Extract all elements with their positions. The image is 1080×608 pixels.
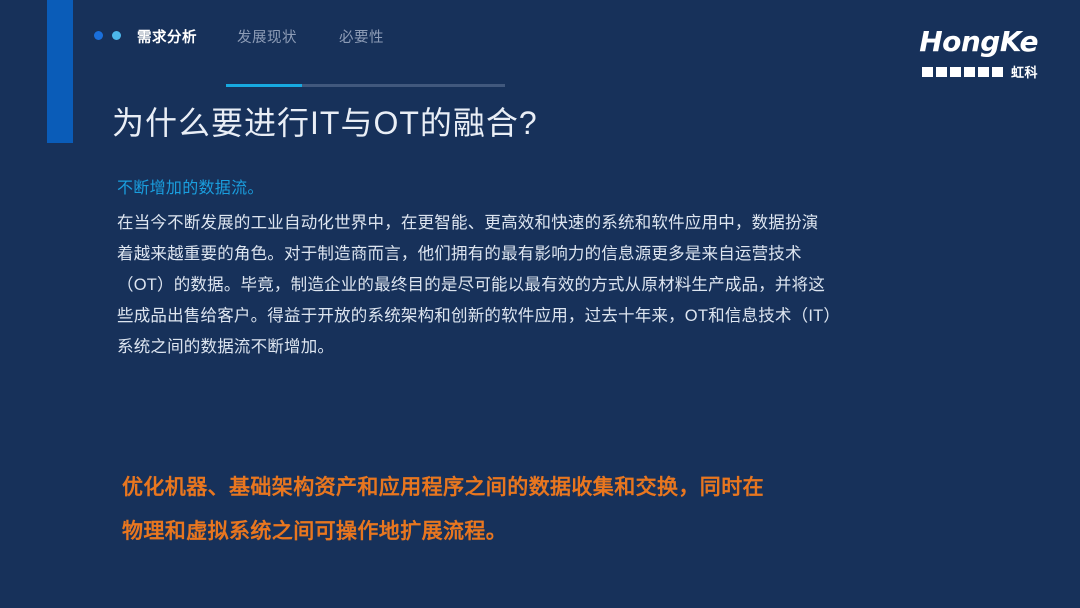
brand-sub-row: 虹科 xyxy=(919,62,1038,81)
nav-underline-track xyxy=(226,84,505,87)
callout-highlight: 优化机器、基础架构资产和应用程序之间的数据收集和交换，同时在 物理和虚拟系统之间… xyxy=(122,466,1022,554)
tab-requirement-analysis[interactable]: 需求分析 xyxy=(137,26,237,47)
tab-development-status[interactable]: 发展现状 xyxy=(237,26,339,47)
brand-name-text: HongKe xyxy=(919,28,1038,56)
dot-indicator-1-icon xyxy=(94,31,103,40)
top-navigation: 需求分析 发展现状 必要性 xyxy=(94,26,654,72)
tab-necessity[interactable]: 必要性 xyxy=(339,26,441,47)
brand-logo: HongKe 虹科 xyxy=(919,28,1038,81)
paragraph-line: 着越来越重要的角色。对于制造商而言，他们拥有的最有影响力的信息源更多是来自运营技… xyxy=(117,239,997,270)
brand-name-cn-text: 虹科 xyxy=(1011,62,1038,81)
paragraph-line: 些成品出售给客户。得益于开放的系统架构和创新的软件应用，过去十年来，OT和信息技… xyxy=(117,301,997,332)
left-accent-bar xyxy=(47,0,73,143)
paragraph-line: 在当今不断发展的工业自动化世界中，在更智能、更高效和快速的系统和软件应用中，数据… xyxy=(117,208,997,239)
callout-line: 优化机器、基础架构资产和应用程序之间的数据收集和交换，同时在 xyxy=(122,466,1022,510)
page-title: 为什么要进行IT与OT的融合? xyxy=(112,98,538,144)
content-block: 不断增加的数据流。 在当今不断发展的工业自动化世界中，在更智能、更高效和快速的系… xyxy=(117,176,997,363)
content-subtitle: 不断增加的数据流。 xyxy=(117,176,997,202)
nav-underline-active-segment xyxy=(226,84,302,87)
callout-line: 物理和虚拟系统之间可操作地扩展流程。 xyxy=(122,510,1022,554)
nav-tabs-list: 需求分析 发展现状 必要性 xyxy=(137,26,441,47)
paragraph-line: （OT）的数据。毕竟，制造企业的最终目的是尽可能以最有效的方式从原材料生产成品，… xyxy=(117,270,997,301)
dot-indicator-2-icon xyxy=(112,31,121,40)
paragraph-line: 系统之间的数据流不断增加。 xyxy=(117,332,997,363)
brand-squares-icon xyxy=(922,67,1003,77)
content-paragraph: 在当今不断发展的工业自动化世界中，在更智能、更高效和快速的系统和软件应用中，数据… xyxy=(117,208,997,363)
nav-dots-group xyxy=(94,31,121,40)
